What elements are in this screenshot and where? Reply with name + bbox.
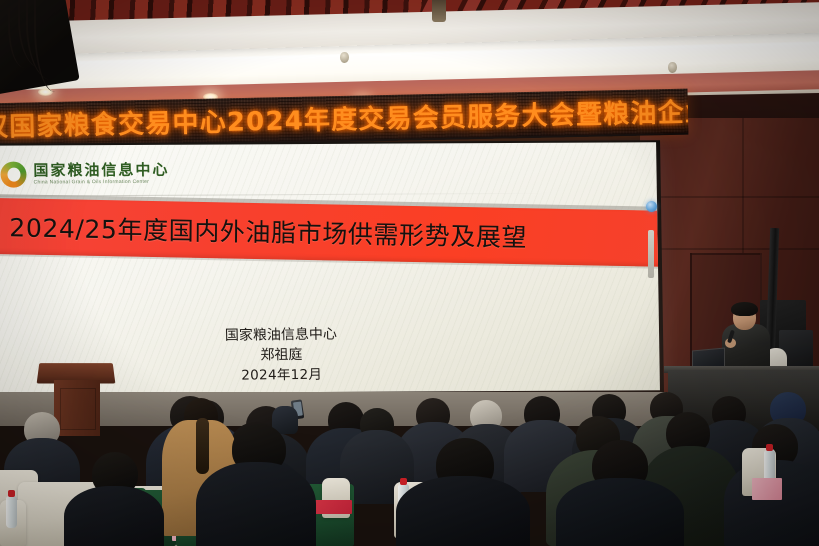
- attendee-body-hooded: [196, 462, 316, 546]
- audience-row-front: [0, 0, 819, 546]
- conference-hall-photo: 汉国家粮食交易中心2024年度交易会员服务大会暨粮油企业座谈会 国家粮油信息中心…: [0, 0, 819, 546]
- attendee-body: [396, 476, 530, 546]
- attendee-body: [64, 486, 164, 546]
- attendee-body: [556, 478, 684, 546]
